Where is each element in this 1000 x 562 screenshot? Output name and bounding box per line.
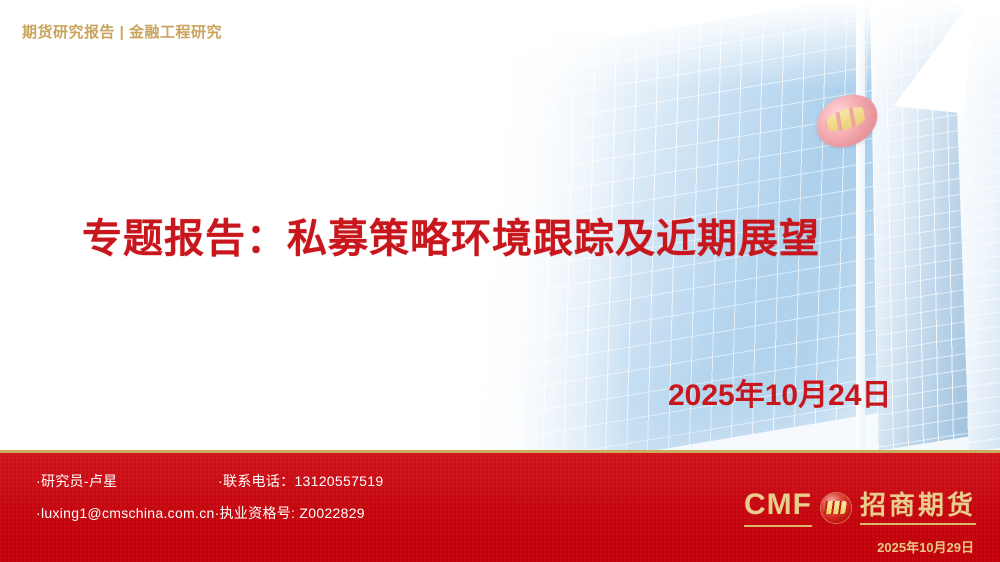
cmf-circular-emblem-icon bbox=[821, 493, 851, 523]
researcher-name: ·研究员-卢星 bbox=[36, 471, 117, 491]
contact-phone: ·联系电话：13120557519 bbox=[218, 471, 383, 491]
badge-mark bbox=[824, 501, 847, 514]
photo-top-fade bbox=[430, 0, 1000, 90]
page-title: 专题报告：私募策略环境跟踪及近期展望 bbox=[82, 206, 820, 264]
contact-email-license: ·luxing1@cmschina.com.cn·执业资格号: Z0022829 bbox=[36, 503, 365, 523]
logo-chinese-text: 招商期货 bbox=[860, 492, 976, 525]
publish-date: 2025年10月29日 bbox=[877, 537, 974, 556]
footer-bar: ·研究员-卢星 ·联系电话：13120557519 ·luxing1@cmsch… bbox=[0, 450, 1000, 562]
slide-canvas: 期货研究报告 | 金融工程研究 专题报告：私募策略环境跟踪及近期展望 2025年… bbox=[0, 0, 1000, 562]
emblem-mark bbox=[822, 101, 871, 137]
logo-latin-text: CMF bbox=[744, 490, 812, 527]
report-date: 2025年10月24日 bbox=[668, 370, 891, 414]
report-category-kicker: 期货研究报告 | 金融工程研究 bbox=[22, 21, 222, 42]
brand-logo: CMF 招商期货 bbox=[744, 487, 976, 529]
